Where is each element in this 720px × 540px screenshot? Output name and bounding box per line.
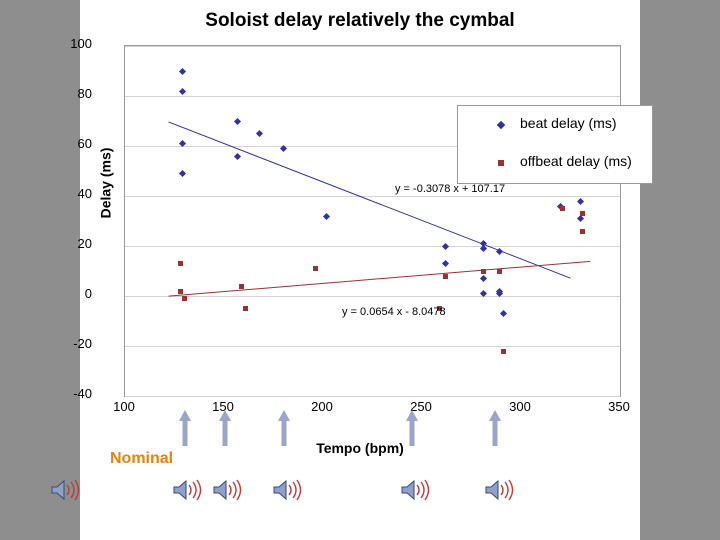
chart-trendlines — [125, 46, 620, 396]
x-tick-label: 200 — [292, 399, 352, 414]
legend-item-beat: beat delay (ms) — [458, 106, 652, 144]
page-title: Soloist delay relatively the cymbal — [80, 10, 640, 32]
slide-canvas: Soloist delay relatively the cymbal Dela… — [80, 0, 640, 540]
pointer-arrow-1 — [178, 410, 192, 446]
legend-item-offbeat: offbeat delay (ms) — [458, 144, 652, 182]
y-tick-label: -40 — [32, 386, 92, 401]
speaker-icon-2[interactable] — [172, 478, 204, 502]
x-tick-label: 250 — [391, 399, 451, 414]
square-marker-icon — [498, 160, 504, 166]
pointer-arrow-5 — [488, 410, 502, 446]
speaker-icon-3[interactable] — [212, 478, 244, 502]
y-tick-label: 100 — [32, 36, 92, 51]
offbeat-trendline — [169, 261, 591, 296]
pointer-arrow-4 — [405, 410, 419, 446]
diamond-marker-icon — [497, 121, 505, 129]
y-tick-label: 20 — [32, 236, 92, 251]
y-tick-label: 80 — [32, 86, 92, 101]
nominal-label: Nominal — [110, 450, 173, 468]
pointer-arrow-2 — [218, 410, 232, 446]
x-tick-label: 100 — [94, 399, 154, 414]
y-tick-label: 60 — [32, 136, 92, 151]
offbeat-trendline-equation: y = 0.0654 x - 8.0478 — [342, 306, 446, 318]
speaker-icon-1[interactable] — [50, 478, 82, 502]
pointer-arrow-3 — [277, 410, 291, 446]
y-tick-label: 40 — [32, 186, 92, 201]
beat-trendline-equation: y = -0.3078 x + 107.17 — [395, 183, 505, 195]
chart-legend: beat delay (ms) offbeat delay (ms) — [457, 105, 653, 184]
y-axis-label: Delay (ms) — [97, 148, 113, 219]
legend-label-beat: beat delay (ms) — [520, 115, 616, 131]
y-tick-label: -20 — [32, 336, 92, 351]
speaker-icon-6[interactable] — [484, 478, 516, 502]
speaker-icon-4[interactable] — [272, 478, 304, 502]
y-tick-label: 0 — [32, 286, 92, 301]
chart-plot-area: beat delay (ms) offbeat delay (ms) — [124, 45, 621, 397]
legend-label-offbeat: offbeat delay (ms) — [520, 153, 632, 169]
x-tick-label: 350 — [589, 399, 649, 414]
gridline — [125, 396, 620, 397]
speaker-icon-5[interactable] — [400, 478, 432, 502]
